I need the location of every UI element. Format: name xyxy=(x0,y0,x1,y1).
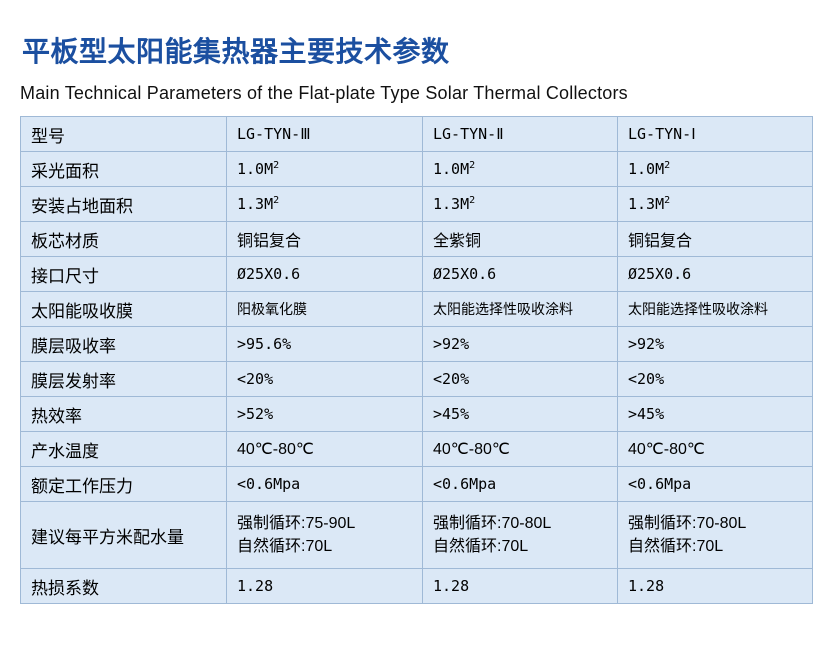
row-value-cell: 强制循环:70-80L自然循环:70L xyxy=(423,502,618,569)
row-value-cell: <20% xyxy=(227,362,423,397)
row-value-cell: 全紫铜 xyxy=(423,222,618,257)
row-value-cell: 1.0M2 xyxy=(618,152,813,187)
cell-text: <20% xyxy=(237,370,273,388)
row-label-cell: 太阳能吸收膜 xyxy=(21,292,227,327)
row-value-cell: <20% xyxy=(618,362,813,397)
row-value-cell: 1.3M2 xyxy=(227,187,423,222)
row-value-cell: 40℃-80℃ xyxy=(423,432,618,467)
document-page: 平板型太阳能集热器主要技术参数 Main Technical Parameter… xyxy=(0,0,832,652)
row-value-cell: 阳极氧化膜 xyxy=(227,292,423,327)
row-label-cell: 采光面积 xyxy=(21,152,227,187)
table-row: 热损系数1.281.281.28 xyxy=(21,569,813,604)
row-value-cell: 40℃-80℃ xyxy=(618,432,813,467)
row-label: 膜层吸收率 xyxy=(31,337,116,356)
row-label: 膜层发射率 xyxy=(31,372,116,391)
cell-text: 1.3M2 xyxy=(237,195,279,213)
row-label: 接口尺寸 xyxy=(31,267,99,286)
cell-text: >52% xyxy=(237,405,273,423)
table-header-row: 型号LG-TYN-ⅢLG-TYN-ⅡLG-TYN-Ⅰ xyxy=(21,117,813,152)
cell-text: >45% xyxy=(628,405,664,423)
cell-text: 铜铝复合 xyxy=(237,233,301,250)
row-value-cell: <0.6Mpa xyxy=(423,467,618,502)
cell-multiline: 强制循环:70-80L自然循环:70L xyxy=(628,512,802,558)
row-label: 安装占地面积 xyxy=(31,197,133,216)
cell-text: 1.0M2 xyxy=(628,160,670,178)
row-value-cell: 1.28 xyxy=(423,569,618,604)
cell-text: 40℃-80℃ xyxy=(237,441,314,458)
row-value-cell: 1.3M2 xyxy=(423,187,618,222)
row-label: 太阳能吸收膜 xyxy=(31,302,133,321)
cell-text: Ø25X0.6 xyxy=(628,265,691,283)
cell-text: 太阳能选择性吸收涂料 xyxy=(628,301,768,317)
table-header-model-3: LG-TYN-Ⅰ xyxy=(618,117,813,152)
row-value-cell: 40℃-80℃ xyxy=(227,432,423,467)
unit-superscript: 2 xyxy=(273,195,279,206)
cell-text: >92% xyxy=(433,335,469,353)
cell-text: 强制循环:70-80L xyxy=(628,512,802,535)
row-label: 热损系数 xyxy=(31,579,99,598)
table-header-label: 型号 xyxy=(21,117,227,152)
row-value-cell: 强制循环:75-90L自然循环:70L xyxy=(227,502,423,569)
unit-superscript: 2 xyxy=(664,195,670,206)
row-value-cell: >92% xyxy=(423,327,618,362)
page-title-en: Main Technical Parameters of the Flat-pl… xyxy=(20,83,628,104)
spec-table-body: 型号LG-TYN-ⅢLG-TYN-ⅡLG-TYN-Ⅰ采光面积1.0M21.0M2… xyxy=(21,117,813,604)
row-label-cell: 建议每平方米配水量 xyxy=(21,502,227,569)
cell-text: LG-TYN-Ⅰ xyxy=(628,125,696,143)
row-value-cell: <0.6Mpa xyxy=(227,467,423,502)
cell-text: 1.0M2 xyxy=(433,160,475,178)
cell-text: 40℃-80℃ xyxy=(433,441,510,458)
row-value-cell: 太阳能选择性吸收涂料 xyxy=(423,292,618,327)
table-row: 热效率>52%>45%>45% xyxy=(21,397,813,432)
table-row: 太阳能吸收膜阳极氧化膜太阳能选择性吸收涂料太阳能选择性吸收涂料 xyxy=(21,292,813,327)
row-value-cell: Ø25X0.6 xyxy=(618,257,813,292)
table-row: 建议每平方米配水量强制循环:75-90L自然循环:70L强制循环:70-80L自… xyxy=(21,502,813,569)
row-value-cell: <20% xyxy=(423,362,618,397)
row-label: 产水温度 xyxy=(31,442,99,461)
cell-text: 太阳能选择性吸收涂料 xyxy=(433,301,573,317)
row-label: 额定工作压力 xyxy=(31,477,133,496)
cell-text: Ø25X0.6 xyxy=(237,265,300,283)
cell-text: >92% xyxy=(628,335,664,353)
cell-text: Ø25X0.6 xyxy=(433,265,496,283)
cell-text: <0.6Mpa xyxy=(628,475,691,493)
row-value-cell: >45% xyxy=(618,397,813,432)
row-label: 采光面积 xyxy=(31,162,99,181)
row-label-cell: 膜层吸收率 xyxy=(21,327,227,362)
cell-text: 40℃-80℃ xyxy=(628,441,705,458)
cell-text: LG-TYN-Ⅱ xyxy=(433,125,504,143)
row-value-cell: >92% xyxy=(618,327,813,362)
spec-table: 型号LG-TYN-ⅢLG-TYN-ⅡLG-TYN-Ⅰ采光面积1.0M21.0M2… xyxy=(20,116,813,604)
row-value-cell: 1.28 xyxy=(227,569,423,604)
row-label-cell: 膜层发射率 xyxy=(21,362,227,397)
table-row: 板芯材质铜铝复合全紫铜铜铝复合 xyxy=(21,222,813,257)
row-value-cell: >52% xyxy=(227,397,423,432)
row-value-cell: Ø25X0.6 xyxy=(423,257,618,292)
unit-superscript: 2 xyxy=(469,160,475,171)
cell-text: <0.6Mpa xyxy=(237,475,300,493)
cell-text-secondary: 自然循环:70L xyxy=(628,535,802,558)
table-row: 安装占地面积1.3M21.3M21.3M2 xyxy=(21,187,813,222)
cell-text: LG-TYN-Ⅲ xyxy=(237,125,311,143)
cell-text-secondary: 自然循环:70L xyxy=(433,535,607,558)
table-row: 膜层吸收率>95.6%>92%>92% xyxy=(21,327,813,362)
unit-superscript: 2 xyxy=(664,160,670,171)
table-row: 采光面积1.0M21.0M21.0M2 xyxy=(21,152,813,187)
cell-text: <20% xyxy=(433,370,469,388)
spec-table-wrapper: 型号LG-TYN-ⅢLG-TYN-ⅡLG-TYN-Ⅰ采光面积1.0M21.0M2… xyxy=(20,116,812,604)
row-value-cell: >95.6% xyxy=(227,327,423,362)
row-value-cell: 1.3M2 xyxy=(618,187,813,222)
cell-text: 1.0M2 xyxy=(237,160,279,178)
row-value-cell: 强制循环:70-80L自然循环:70L xyxy=(618,502,813,569)
row-value-cell: 1.0M2 xyxy=(423,152,618,187)
cell-text: 1.28 xyxy=(237,577,273,595)
cell-text: 全紫铜 xyxy=(433,233,481,250)
row-label-cell: 热效率 xyxy=(21,397,227,432)
row-label: 热效率 xyxy=(31,407,82,426)
cell-text: 1.28 xyxy=(433,577,469,595)
row-value-cell: <0.6Mpa xyxy=(618,467,813,502)
table-header-model-2: LG-TYN-Ⅱ xyxy=(423,117,618,152)
cell-text: <20% xyxy=(628,370,664,388)
unit-superscript: 2 xyxy=(469,195,475,206)
cell-text: 型号 xyxy=(31,127,65,146)
page-title-cn: 平板型太阳能集热器主要技术参数 xyxy=(22,30,450,70)
table-row: 产水温度40℃-80℃40℃-80℃40℃-80℃ xyxy=(21,432,813,467)
cell-text-secondary: 自然循环:70L xyxy=(237,535,412,558)
cell-text: 强制循环:75-90L xyxy=(237,512,412,535)
row-value-cell: Ø25X0.6 xyxy=(227,257,423,292)
row-label-cell: 产水温度 xyxy=(21,432,227,467)
row-label-cell: 安装占地面积 xyxy=(21,187,227,222)
row-label-cell: 板芯材质 xyxy=(21,222,227,257)
cell-multiline: 强制循环:70-80L自然循环:70L xyxy=(433,512,607,558)
table-header-model-1: LG-TYN-Ⅲ xyxy=(227,117,423,152)
row-value-cell: 1.0M2 xyxy=(227,152,423,187)
table-row: 额定工作压力<0.6Mpa<0.6Mpa<0.6Mpa xyxy=(21,467,813,502)
cell-text: >45% xyxy=(433,405,469,423)
cell-text: <0.6Mpa xyxy=(433,475,496,493)
row-label: 建议每平方米配水量 xyxy=(31,528,184,547)
cell-text: 铜铝复合 xyxy=(628,233,692,250)
row-value-cell: 1.28 xyxy=(618,569,813,604)
row-label-cell: 接口尺寸 xyxy=(21,257,227,292)
cell-text: >95.6% xyxy=(237,335,291,353)
unit-superscript: 2 xyxy=(273,160,279,171)
cell-text: 强制循环:70-80L xyxy=(433,512,607,535)
row-value-cell: 铜铝复合 xyxy=(227,222,423,257)
table-row: 接口尺寸Ø25X0.6Ø25X0.6Ø25X0.6 xyxy=(21,257,813,292)
row-value-cell: >45% xyxy=(423,397,618,432)
cell-text: 阳极氧化膜 xyxy=(237,301,307,317)
row-value-cell: 铜铝复合 xyxy=(618,222,813,257)
cell-text: 1.3M2 xyxy=(433,195,475,213)
cell-text: 1.3M2 xyxy=(628,195,670,213)
row-value-cell: 太阳能选择性吸收涂料 xyxy=(618,292,813,327)
row-label: 板芯材质 xyxy=(31,232,99,251)
cell-multiline: 强制循环:75-90L自然循环:70L xyxy=(237,512,412,558)
row-label-cell: 额定工作压力 xyxy=(21,467,227,502)
row-label-cell: 热损系数 xyxy=(21,569,227,604)
cell-text: 1.28 xyxy=(628,577,664,595)
table-row: 膜层发射率<20%<20%<20% xyxy=(21,362,813,397)
